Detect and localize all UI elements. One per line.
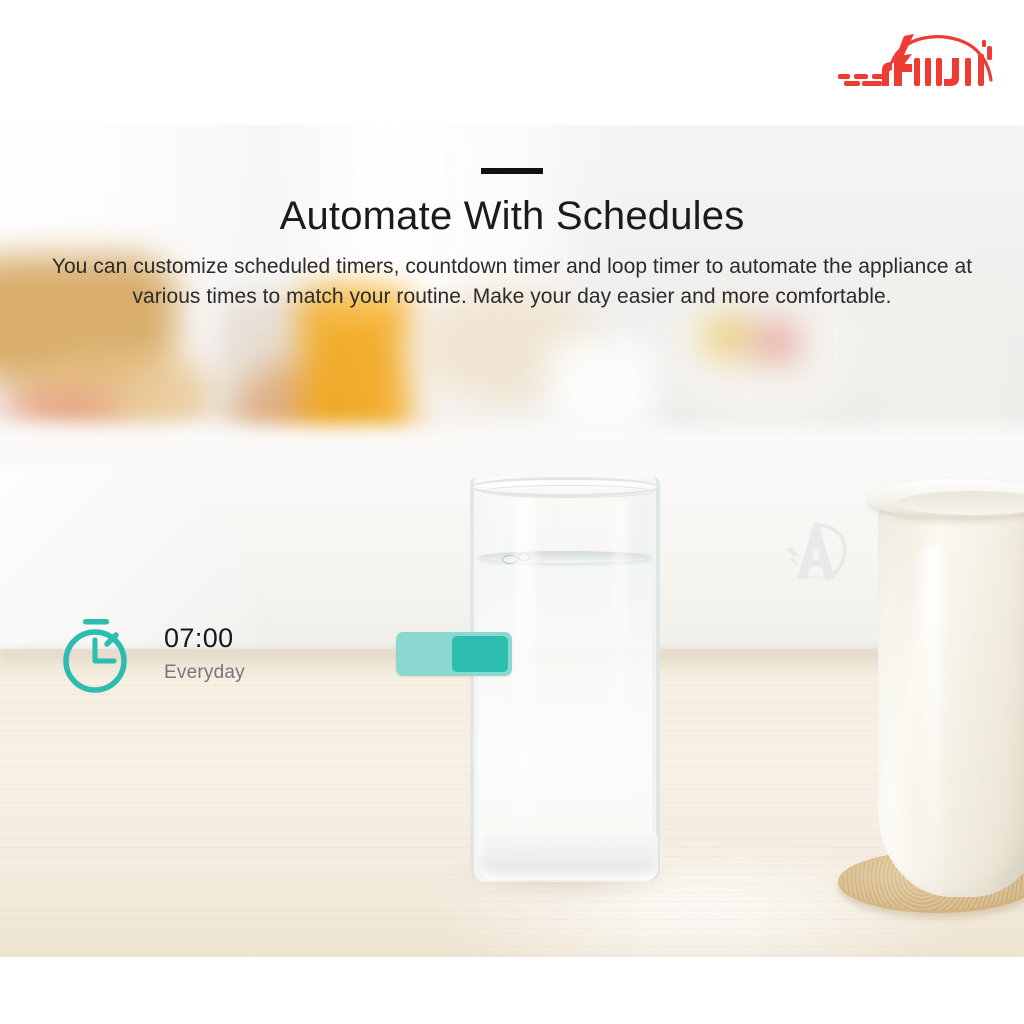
- product-photo: artaelectric.ir 07:00 Everyday: [0, 125, 1024, 957]
- glass-rim: [470, 477, 660, 497]
- timer-toggle-knob: [452, 636, 508, 672]
- watermark-caption: artaelectric.ir: [772, 575, 856, 581]
- glass-highlight: [514, 495, 536, 855]
- glass-rim-inner: [482, 485, 654, 498]
- stopwatch-icon: [62, 613, 138, 695]
- blurred-red-accent: [0, 393, 120, 427]
- timer-text-group: 07:00 Everyday: [164, 624, 245, 685]
- blurred-container: [866, 275, 1016, 435]
- arta-electric-logo[interactable]: [832, 28, 1002, 100]
- schedule-timer-widget[interactable]: 07:00 Everyday: [62, 608, 462, 700]
- glass-of-water: [470, 477, 660, 892]
- blurred-fruit-yellow: [700, 315, 756, 359]
- pitcher-sheen: [924, 545, 942, 875]
- glass-body: [470, 477, 660, 882]
- timer-time: 07:00: [164, 624, 245, 654]
- footer-band: [0, 957, 1024, 1024]
- arta-watermark: artaelectric.ir: [772, 517, 856, 591]
- timer-toggle-switch[interactable]: [396, 632, 512, 676]
- pitcher-rim-inner: [896, 491, 1024, 515]
- glass-base: [480, 832, 658, 880]
- glass-highlight: [614, 501, 626, 841]
- promo-page: artaelectric.ir 07:00 Everyday: [0, 0, 1024, 1024]
- ceramic-pitcher: [856, 475, 1024, 935]
- header-band: [0, 0, 1024, 125]
- pitcher-body: [878, 497, 1024, 897]
- timer-repeat: Everyday: [164, 662, 245, 684]
- blurred-fruit-red: [750, 321, 802, 363]
- blurred-juice-surface: [302, 291, 408, 321]
